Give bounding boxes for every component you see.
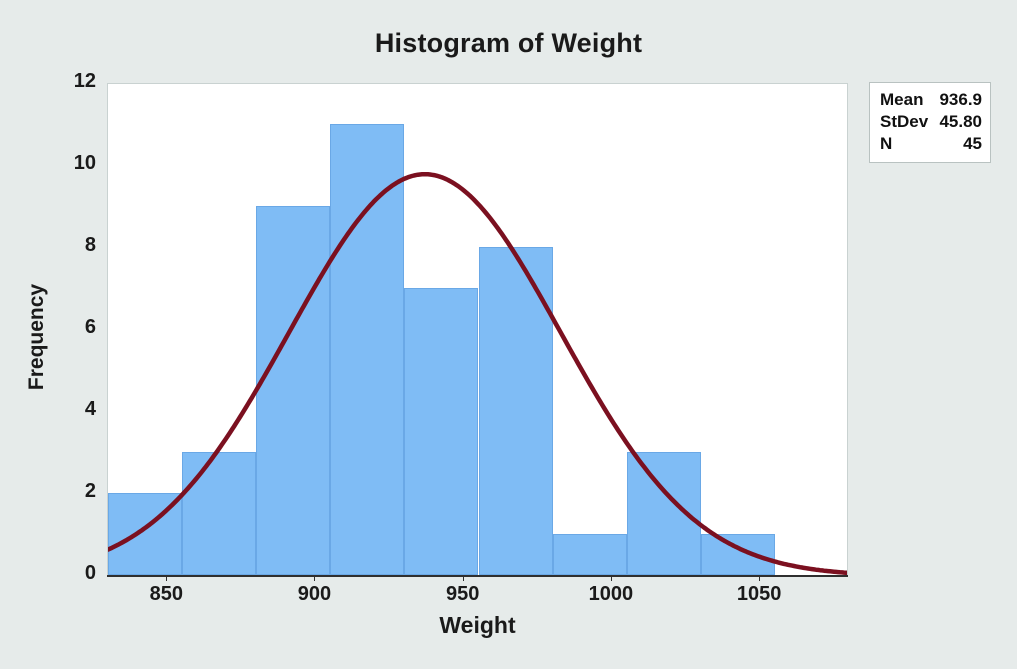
- statistics-label: StDev: [880, 111, 928, 133]
- y-axis-title: Frequency: [25, 237, 49, 437]
- histogram-bar: [182, 452, 256, 575]
- histogram-bar: [479, 247, 553, 575]
- x-tick-mark: [759, 575, 760, 581]
- histogram-bar: [330, 124, 404, 575]
- x-tick-mark: [314, 575, 315, 581]
- plot-inner: [108, 84, 847, 575]
- histogram-bar: [108, 493, 182, 575]
- x-tick-label: 850: [121, 583, 211, 606]
- statistics-value: 936.9: [939, 89, 982, 111]
- page-title: Histogram of Weight: [0, 28, 1017, 59]
- statistics-row: N45: [880, 133, 982, 155]
- x-tick-label: 900: [269, 583, 359, 606]
- y-tick-label: 8: [50, 234, 96, 257]
- x-tick-mark: [463, 575, 464, 581]
- x-axis-title: Weight: [107, 612, 848, 639]
- histogram-bar: [404, 288, 478, 575]
- histogram-bar: [256, 206, 330, 575]
- plot-area: [107, 83, 848, 575]
- y-tick-label: 10: [50, 152, 96, 175]
- statistics-value: 45: [963, 133, 982, 155]
- x-tick-mark: [166, 575, 167, 581]
- y-tick-label: 12: [50, 70, 96, 93]
- statistics-row: StDev45.80: [880, 111, 982, 133]
- y-tick-label: 4: [50, 398, 96, 421]
- x-tick-mark: [611, 575, 612, 581]
- x-axis-line: [107, 575, 848, 577]
- statistics-row: Mean936.9: [880, 89, 982, 111]
- histogram-bar: [553, 534, 627, 575]
- x-tick-label: 1000: [566, 583, 656, 606]
- statistics-label: Mean: [880, 89, 923, 111]
- statistics-legend-box: Mean936.9StDev45.80N45: [869, 82, 991, 163]
- y-tick-label: 0: [50, 562, 96, 585]
- histogram-bar: [701, 534, 775, 575]
- statistics-label: N: [880, 133, 892, 155]
- histogram-figure: Histogram of Weight 85090095010001050 02…: [0, 0, 1017, 669]
- x-tick-label: 1050: [714, 583, 804, 606]
- histogram-bar: [627, 452, 701, 575]
- statistics-value: 45.80: [939, 111, 982, 133]
- x-tick-label: 950: [418, 583, 508, 606]
- y-tick-label: 6: [50, 316, 96, 339]
- y-tick-label: 2: [50, 480, 96, 503]
